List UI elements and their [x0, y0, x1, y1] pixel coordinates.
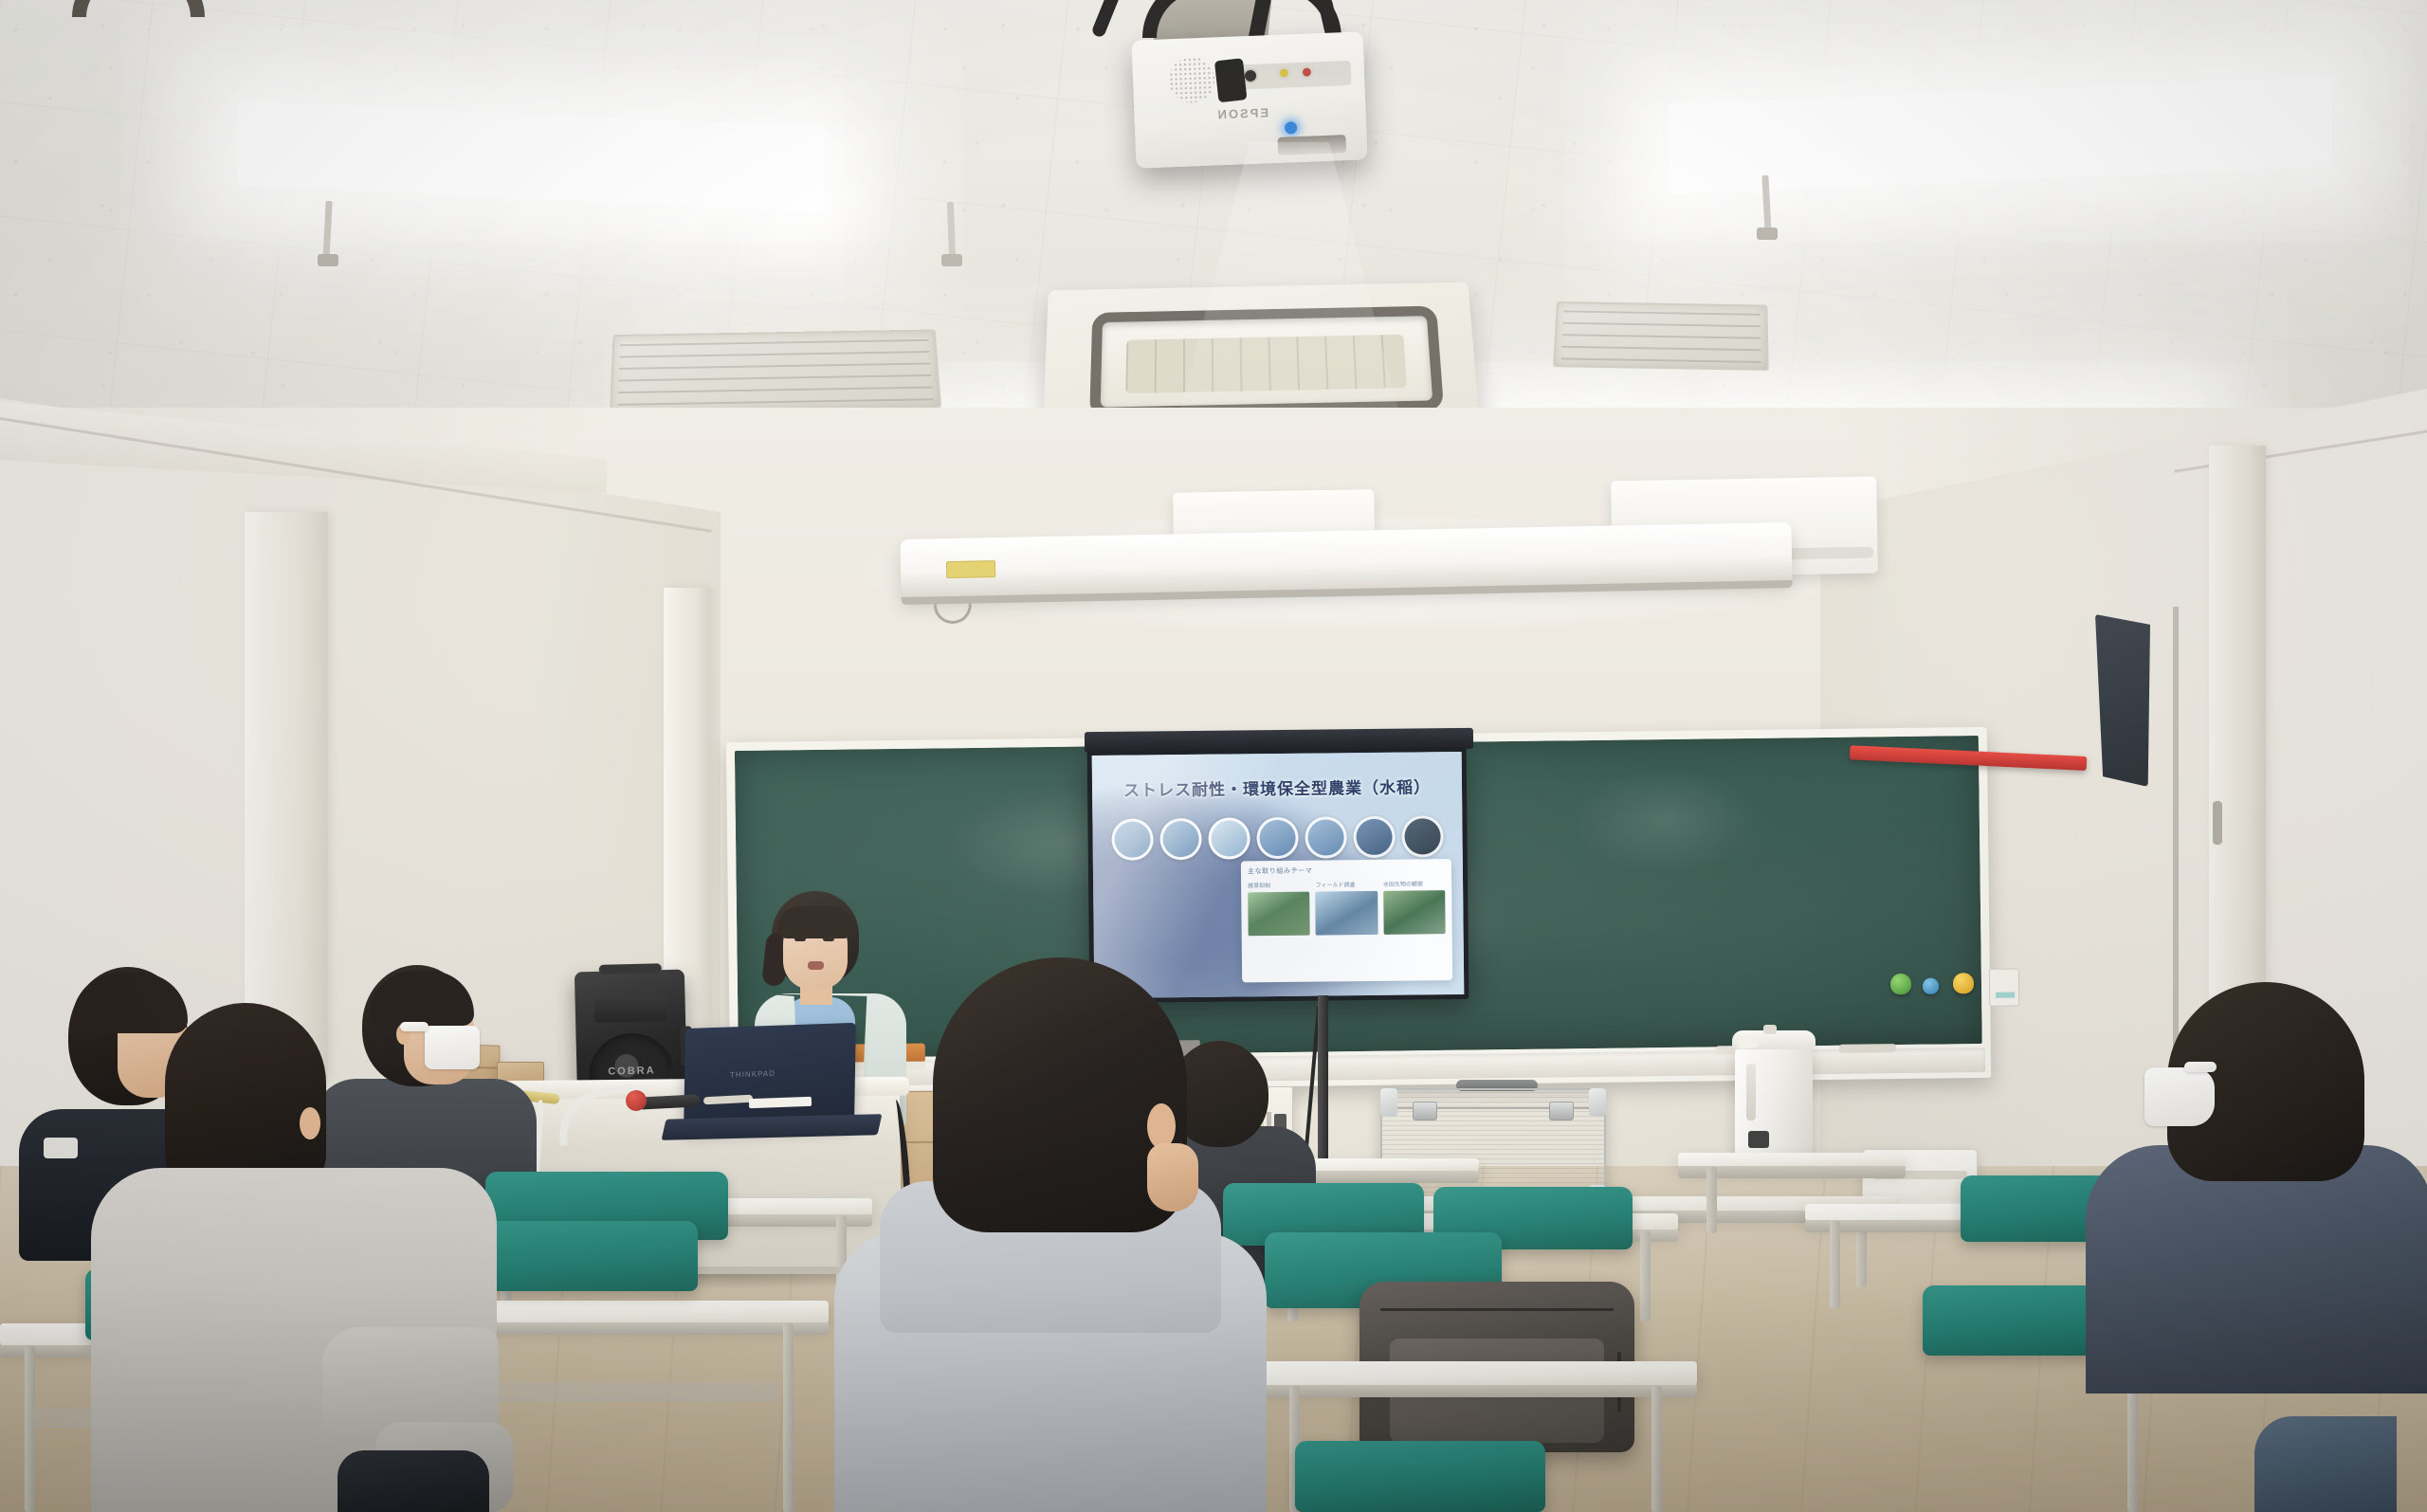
- badge-photo: [1305, 816, 1347, 859]
- student-6-sweatshirt: [2086, 1145, 2427, 1394]
- blue-magnet[interactable]: [1923, 978, 1939, 994]
- desk-leg: [1640, 1230, 1651, 1321]
- light-cap: [318, 254, 338, 266]
- student-4: [834, 957, 1270, 1512]
- case-corner: [1380, 1088, 1397, 1117]
- hanging-cloth: [2095, 614, 2150, 787]
- speaker-handle[interactable]: [599, 963, 662, 975]
- panel-column: 水田生物の観察: [1383, 879, 1446, 935]
- ac-bezel: [1089, 306, 1444, 418]
- badge-photo: [1208, 817, 1250, 860]
- ceiling-projector[interactable]: EPSON: [1131, 31, 1367, 168]
- slide-content-panel: 主な取り組みテーマ 雑草抑制 フィールド調査 水田生物の観察: [1241, 859, 1453, 982]
- jacket-logo-icon: [44, 1138, 78, 1158]
- badge-photo: [1402, 815, 1445, 858]
- panel-heading: 主な取り組みテーマ: [1248, 865, 1445, 876]
- desk-leg: [1706, 1167, 1717, 1233]
- projector-lens: [1278, 135, 1347, 155]
- classroom-desk: [1678, 1153, 1906, 1167]
- pot-control-panel[interactable]: [1748, 1131, 1769, 1148]
- door-handle[interactable]: [2213, 801, 2222, 845]
- badge-photo: [1159, 817, 1202, 860]
- slide-title: ストレス耐性・環境保全型農業（水稲）: [1114, 774, 1439, 801]
- laptop-brand-label: THINKPAD: [730, 1069, 776, 1080]
- panel-thumbnail: [1316, 891, 1378, 936]
- panel-caption: 雑草抑制: [1248, 880, 1310, 889]
- classroom-desk: [1261, 1361, 1697, 1386]
- desk-leg: [25, 1346, 35, 1512]
- ceiling-vent-right: [1553, 301, 1769, 371]
- panel-column: 雑草抑制: [1248, 880, 1310, 936]
- pot-lid-button[interactable]: [1763, 1025, 1777, 1034]
- ac-grille-icon: [1125, 335, 1407, 393]
- student-2-leg: [338, 1450, 489, 1512]
- backpack-zipper[interactable]: [1380, 1308, 1614, 1311]
- presenter-eye: [794, 937, 806, 941]
- pot-water-gauge: [1746, 1064, 1756, 1120]
- classroom-scene: EPSON: [0, 0, 2427, 1512]
- case-latch-right[interactable]: [1549, 1102, 1574, 1120]
- projector-speaker-icon: [1168, 56, 1215, 103]
- desk-leg: [1651, 1386, 1662, 1512]
- projector-cable-arc: [1142, 0, 1341, 38]
- projector-brand-label: EPSON: [1215, 105, 1268, 121]
- panel-columns: 雑草抑制 フィールド調査 水田生物の観察: [1248, 879, 1446, 936]
- light-cap: [1757, 228, 1778, 240]
- profile-photo-badges: [1111, 815, 1444, 861]
- light-cap: [941, 254, 962, 266]
- presenter-fringe: [777, 906, 853, 938]
- classroom-chair[interactable]: [466, 1221, 698, 1291]
- mask-ear-loop: [2184, 1062, 2217, 1072]
- presenter-eye: [823, 937, 834, 941]
- chalk-smudge: [1569, 767, 1760, 873]
- badge-photo: [1111, 818, 1154, 861]
- green-magnet[interactable]: [1890, 974, 1911, 994]
- student-4-ear: [1147, 1103, 1176, 1149]
- desk-leg: [1830, 1221, 1840, 1308]
- student-6-face-mask: [2144, 1067, 2215, 1126]
- hdmi-plug: [1214, 58, 1248, 102]
- panel-column: フィールド調査: [1315, 880, 1378, 936]
- yellow-magnet[interactable]: [1953, 973, 1974, 993]
- panel-caption: 水田生物の観察: [1383, 879, 1446, 888]
- student-4-neck: [1147, 1143, 1198, 1211]
- fixture-warning-label: [946, 560, 995, 578]
- panel-thumbnail: [1248, 891, 1310, 936]
- student-2-hair: [165, 1003, 326, 1193]
- speaker-brand-label: COBRA: [595, 1065, 667, 1078]
- mask-ear-loop: [400, 1022, 429, 1031]
- vent-slats-icon: [1561, 309, 1761, 363]
- panel-caption: フィールド調査: [1315, 880, 1378, 889]
- badge-photo: [1354, 815, 1396, 858]
- electric-water-boiler[interactable]: [1735, 1041, 1813, 1159]
- backpack-handle[interactable]: [72, 0, 205, 17]
- white-note-card[interactable]: [1989, 968, 2019, 1006]
- case-corner: [1589, 1088, 1606, 1117]
- presenter-mouth: [808, 961, 824, 970]
- chalk-piece[interactable]: [1839, 1044, 1896, 1053]
- badge-photo: [1256, 816, 1299, 859]
- desk-leg: [783, 1323, 794, 1512]
- case-latch-left[interactable]: [1413, 1102, 1437, 1120]
- projector-power-led: [1285, 121, 1297, 134]
- panel-thumbnail: [1383, 890, 1446, 935]
- ceiling-vent-left: [610, 329, 941, 412]
- student-2-ear: [300, 1107, 320, 1139]
- student-7-shoulder: [2254, 1416, 2397, 1512]
- speaker-tweeter: [594, 996, 667, 1023]
- classroom-chair[interactable]: [1295, 1441, 1545, 1512]
- student-3-face-mask: [425, 1026, 480, 1069]
- vent-slats-icon: [617, 337, 933, 406]
- student-6: [2086, 982, 2427, 1390]
